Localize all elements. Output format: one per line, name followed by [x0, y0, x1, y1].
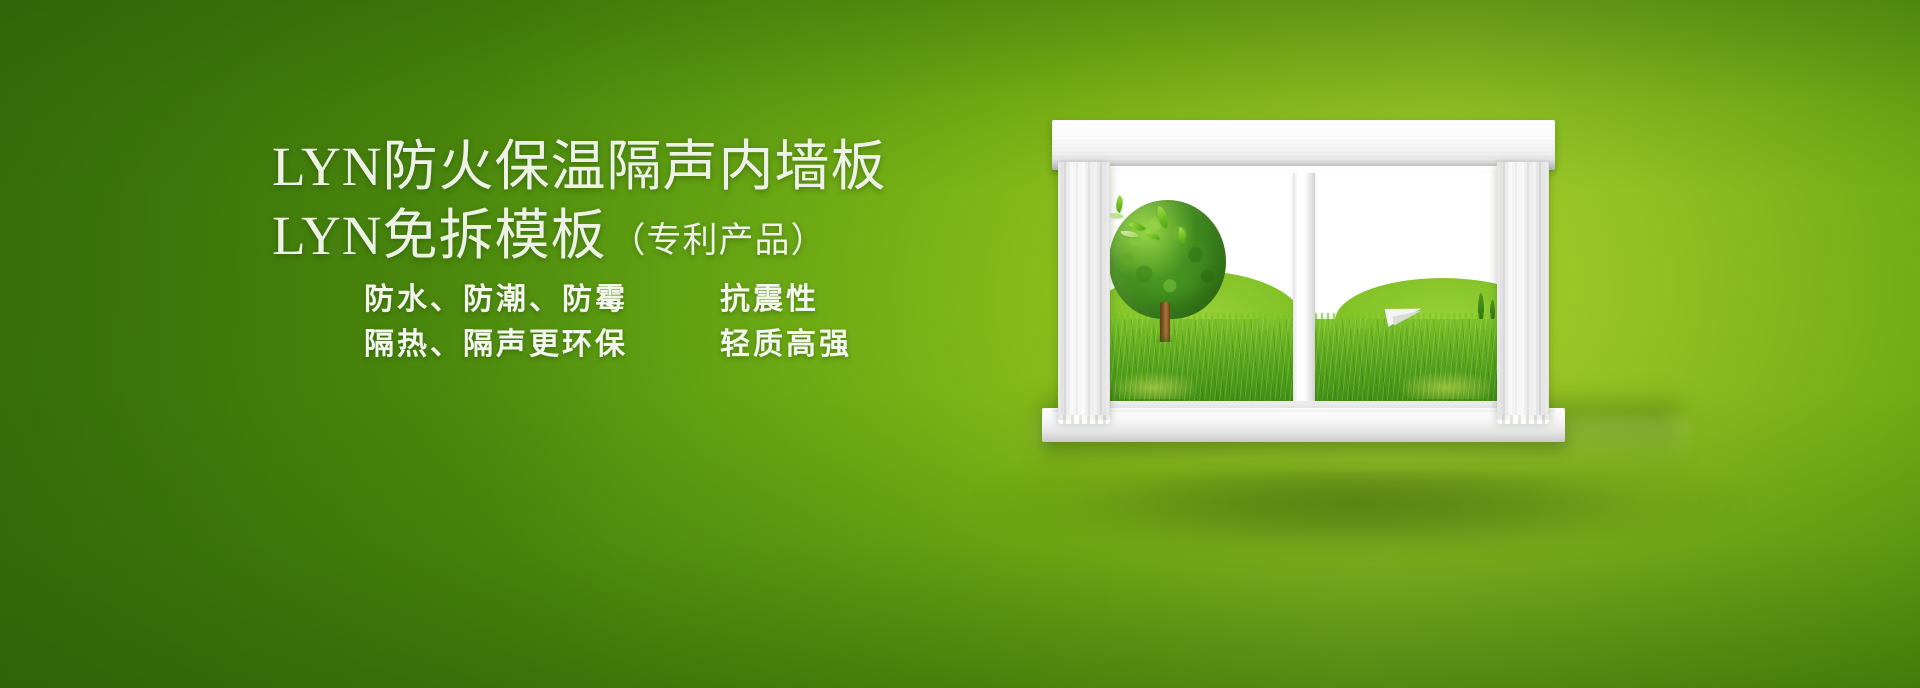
grass-highlight — [1403, 371, 1491, 399]
vertical-curtain-right — [1497, 162, 1549, 420]
tree-trunk — [1160, 302, 1169, 342]
grass-highlight — [1113, 371, 1195, 399]
curtain-hem — [1058, 415, 1110, 424]
window-mullion — [1293, 173, 1315, 401]
window-frame — [1090, 166, 1518, 408]
window-pane-left — [1097, 173, 1293, 401]
feature-item-seismic: 抗震性 — [720, 283, 852, 317]
window-scene — [1066, 120, 1541, 420]
feature-item-waterproof: 防水、防潮、防霉 — [364, 283, 628, 317]
feature-item-lightweight: 轻质高强 — [720, 328, 852, 362]
headline-block: LYN防火保温隔声内墙板 LYN免拆模板 （专利产品） — [272, 132, 912, 277]
curtain-hem — [1497, 415, 1549, 424]
vertical-curtain-left — [1058, 162, 1110, 420]
promo-banner: LYN防火保温隔声内墙板 LYN免拆模板 （专利产品） 防水、防潮、防霉 隔热、… — [0, 0, 1920, 688]
valance-texture — [1052, 120, 1555, 165]
window-sill — [1042, 408, 1565, 442]
headline-line-1: LYN防火保温隔声内墙板 — [272, 132, 912, 201]
headline-line-2: LYN免拆模板 （专利产品） — [272, 201, 912, 277]
headline-line-2-main: LYN免拆模板 — [272, 201, 607, 270]
curtain-valance — [1052, 120, 1555, 165]
feature-column-left: 防水、防潮、防霉 隔热、隔声更环保 — [364, 283, 628, 362]
feature-item-insulation: 隔热、隔声更环保 — [364, 328, 628, 362]
feature-list: 防水、防潮、防霉 隔热、隔声更环保 抗震性 轻质高强 — [364, 283, 852, 362]
window-pane-right — [1315, 173, 1511, 401]
window-glass-area — [1097, 173, 1511, 401]
grass-field — [1315, 319, 1511, 401]
window-cast-shadow — [980, 468, 1740, 588]
headline-patent-note: （专利产品） — [611, 206, 827, 275]
feature-column-right: 抗震性 轻质高强 — [720, 283, 852, 362]
